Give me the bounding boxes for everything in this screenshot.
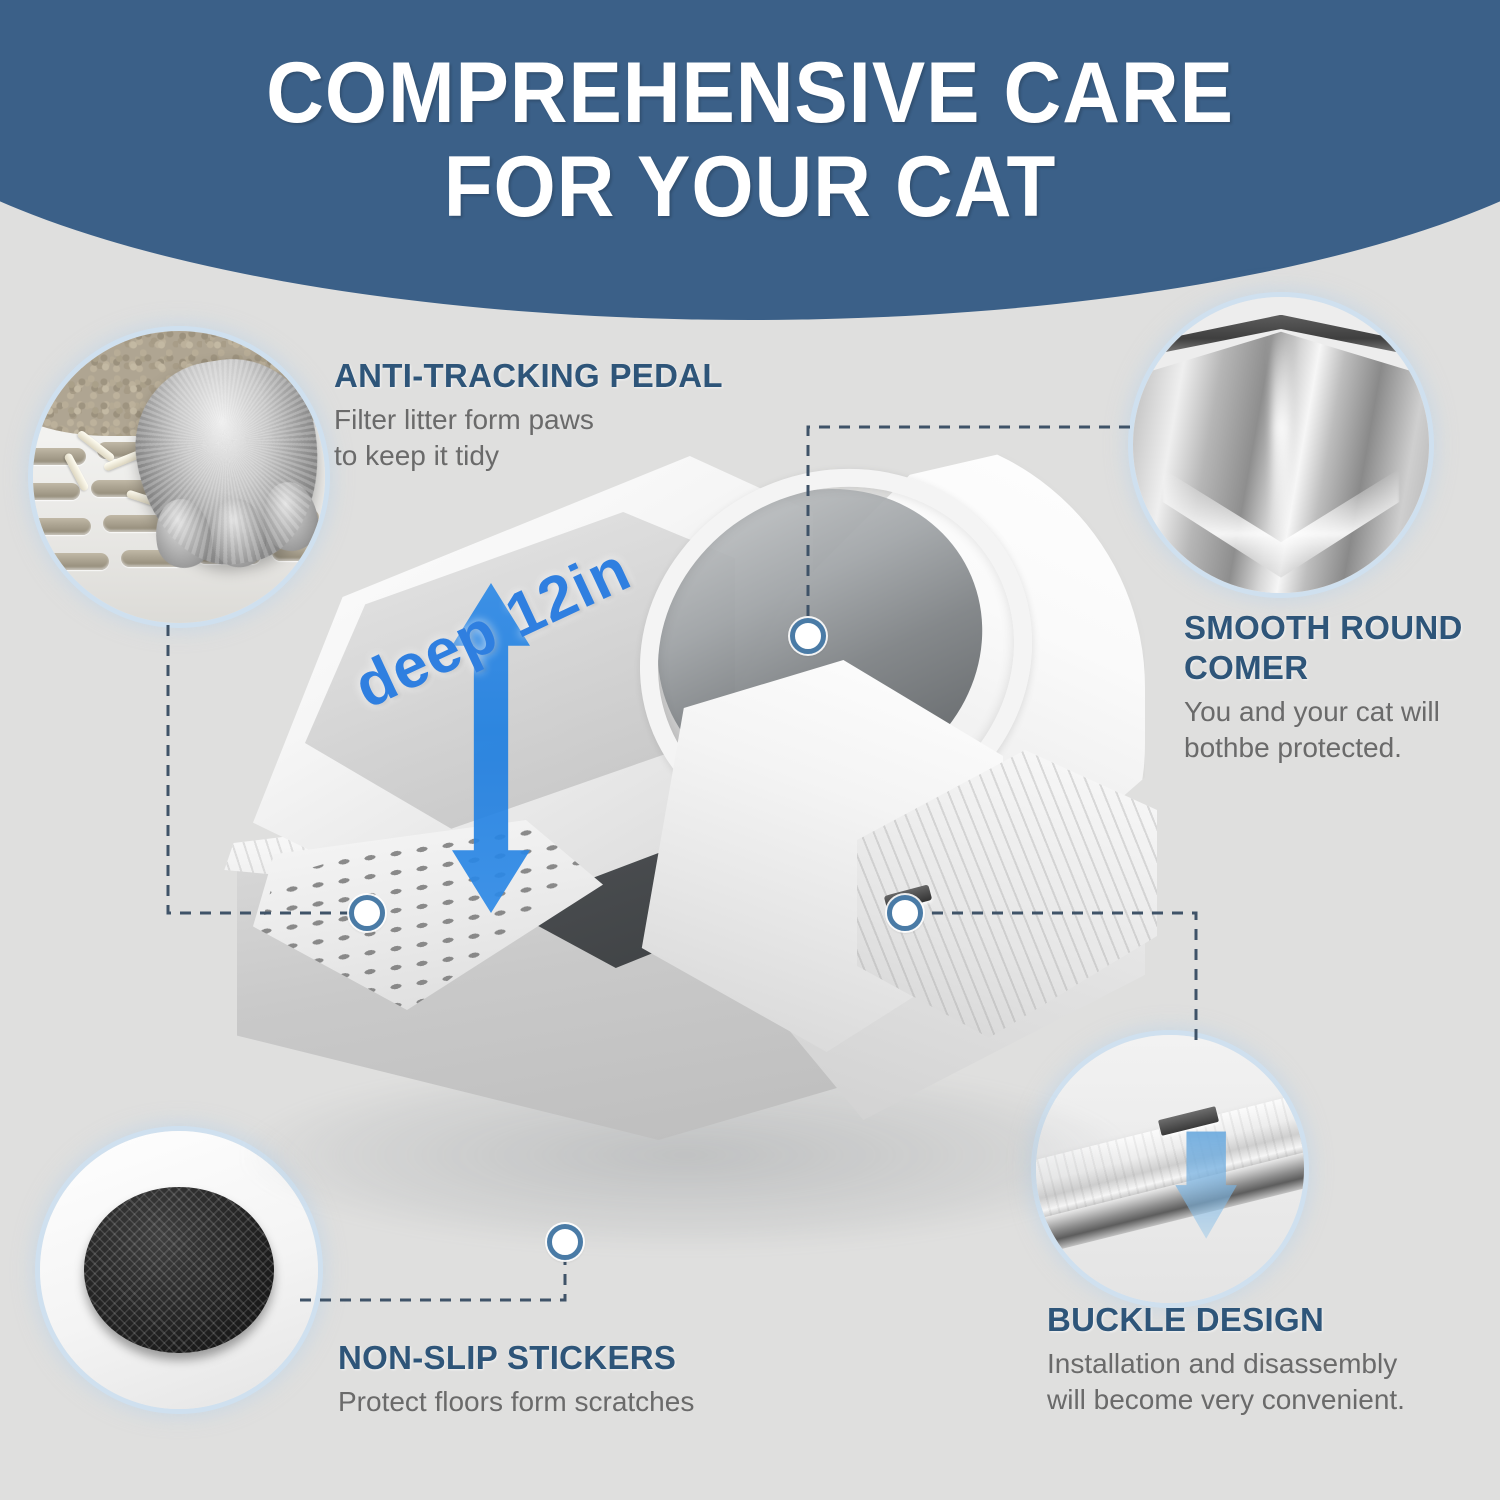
grate-slot: [33, 448, 86, 465]
hotspot-dot-buckle-design[interactable]: [887, 895, 923, 931]
feature-block-anti-tracking-pedal: ANTI-TRACKING PEDAL Filter litter form p…: [334, 356, 804, 474]
grate-slot: [45, 553, 109, 570]
grate-slot: [33, 483, 80, 500]
feature-title-buckle-design: BUCKLE DESIGN: [1047, 1300, 1467, 1340]
steel-seam-highlight: [1272, 321, 1290, 534]
feature-block-non-slip-stickers: NON-SLIP STICKERS Protect floors form sc…: [338, 1338, 758, 1420]
feature-block-buckle-design: BUCKLE DESIGN Installation and disassemb…: [1047, 1300, 1467, 1418]
product-litter-box-illustration: deep 12in: [185, 420, 1195, 1280]
feature-title-smooth-round-corner: SMOOTH ROUND COMER: [1184, 608, 1484, 688]
hotspot-dot-smooth-round-corner[interactable]: [790, 618, 826, 654]
feature-body-smooth-round-corner: You and your cat will bothbe protected.: [1184, 694, 1484, 766]
feature-body-non-slip-stickers: Protect floors form scratches: [338, 1384, 758, 1420]
feature-title-non-slip-stickers: NON-SLIP STICKERS: [338, 1338, 758, 1378]
infographic-canvas: COMPREHENSIVE CARE FOR YOUR CAT: [0, 0, 1500, 1500]
page-title: COMPREHENSIVE CARE FOR YOUR CAT: [53, 46, 1448, 234]
hotspot-dot-anti-tracking-pedal[interactable]: [349, 895, 385, 931]
grate-slot: [33, 518, 91, 535]
feature-title-anti-tracking-pedal: ANTI-TRACKING PEDAL: [334, 356, 804, 396]
feature-body-buckle-design: Installation and disassembly will become…: [1047, 1346, 1467, 1418]
feature-body-anti-tracking-pedal: Filter litter form paws to keep it tidy: [334, 402, 804, 474]
header-banner: COMPREHENSIVE CARE FOR YOUR CAT: [0, 0, 1500, 330]
hotspot-dot-non-slip-stickers[interactable]: [547, 1224, 583, 1260]
feature-block-smooth-round-corner: SMOOTH ROUND COMER You and your cat will…: [1184, 608, 1484, 766]
